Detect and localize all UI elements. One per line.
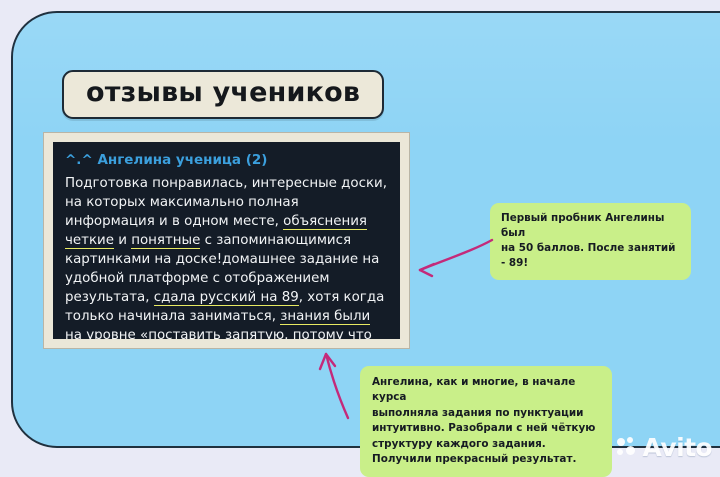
page-title: отзывы учеников [86,79,360,107]
avito-watermark: Avito [617,435,712,460]
review-author-line: ^.^ Ангелина ученица (2) [65,153,388,169]
callout-method-line-5: Получили прекрасный результат. [372,452,601,467]
avito-wordmark: Avito [643,435,712,460]
review-plain: и [114,233,131,248]
callout-method-line-4: структуру каждого задания. [372,437,601,452]
review-card-body: ^.^ Ангелина ученица (2) Подготовка понр… [53,142,400,339]
callout-score-note: Первый пробник Ангелины был на 50 баллов… [490,203,691,280]
screenshot-stage: отзывы учеников ^.^ Ангелина ученица (2)… [0,0,720,470]
callout-method-line-2: выполняла задания по пунктуации [372,406,601,421]
review-highlight: понятные [131,233,200,249]
page-title-chip: отзывы учеников [62,70,384,119]
review-highlight: сдала русский на 89 [154,290,299,306]
callout-score-line-1: Первый пробник Ангелины был [501,211,681,241]
callout-score-line-2: на 50 баллов. После занятий - 89! [501,241,681,271]
avito-logo-icon [617,437,638,458]
review-text: Подготовка понравилась, интересные доски… [65,174,388,339]
review-card: ^.^ Ангелина ученица (2) Подготовка понр… [43,132,410,349]
callout-method-line-3: интуитивно. Разобрали с ней чёткую [372,421,601,436]
callout-method-note: Ангелина, как и многие, в начале курса в… [360,366,612,477]
callout-method-line-1: Ангелина, как и многие, в начале курса [372,375,601,406]
